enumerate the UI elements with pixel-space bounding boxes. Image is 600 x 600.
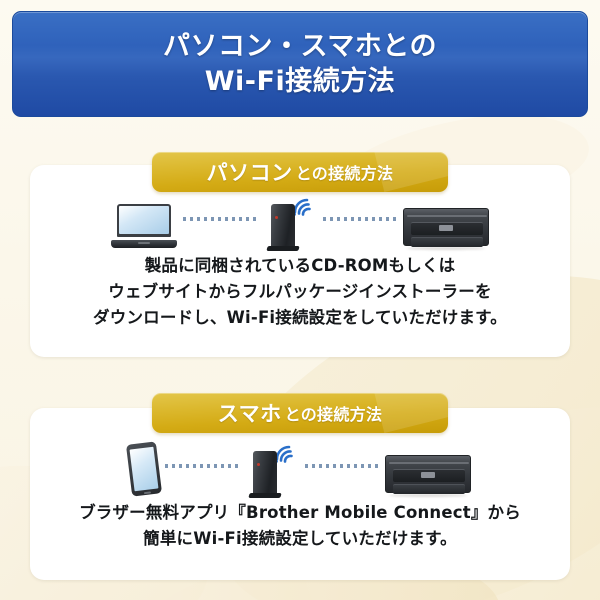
banner-title-line-2: Wi-Fi接続方法: [205, 64, 395, 99]
printer-lower-tray: [393, 484, 465, 494]
router-icon: [263, 192, 317, 248]
router-base: [266, 246, 299, 251]
printer-body: [385, 455, 471, 493]
body-text-sp-line-2: 簡単にWi-Fi接続設定していただけます。: [0, 526, 600, 552]
smartphone-screen: [130, 447, 159, 492]
badge-pc-strong-label: パソコン: [207, 157, 293, 187]
printer-logo: [439, 225, 453, 231]
printer-slot: [385, 437, 471, 495]
dotted-connector-icon: [305, 464, 379, 468]
dotted-connector-icon: [165, 464, 239, 468]
badge-smartphone-connection: スマホ との接続方法: [152, 393, 448, 433]
laptop-base: [111, 240, 177, 248]
smartphone-slot: [129, 437, 159, 495]
router-body: [253, 451, 277, 495]
laptop-slot: [111, 190, 177, 248]
router-icon: [245, 439, 299, 495]
banner-title-line-1: パソコン・スマホとの: [163, 29, 437, 64]
dotted-connector-icon: [183, 217, 257, 221]
printer-logo: [421, 472, 435, 478]
printer-top-line: [389, 462, 469, 464]
printer-icon: [385, 451, 471, 495]
laptop-screen: [119, 206, 169, 234]
printer-shadow: [389, 494, 467, 497]
printer-top-line: [407, 215, 487, 217]
body-text-pc-line-3: ダウンロードし、Wi-Fi接続設定をしていただけます。: [0, 305, 600, 331]
header-banner: パソコン・スマホとの Wi-Fi接続方法: [12, 11, 588, 117]
router-slot: [245, 437, 299, 495]
printer-shadow: [407, 247, 485, 250]
smartphone-home-button: [143, 491, 150, 494]
badge-pc-connection: パソコン との接続方法: [152, 152, 448, 192]
router-body: [271, 204, 295, 248]
printer-slot: [403, 190, 489, 248]
router-slot: [263, 190, 317, 248]
device-diagram-smartphone: [0, 437, 600, 495]
dotted-connector-icon: [323, 217, 397, 221]
laptop-lid: [117, 204, 171, 237]
router-base: [248, 493, 281, 498]
page-root: パソコン・スマホとの Wi-Fi接続方法 パソコン との接続方法: [0, 0, 600, 600]
badge-pc-rest-label: との接続方法: [296, 160, 394, 184]
printer-body: [403, 208, 489, 246]
badge-sp-strong-label: スマホ: [218, 398, 282, 428]
body-text-pc: 製品に同梱されているCD-ROMもしくは ウェブサイトからフルパッケージインスト…: [0, 253, 600, 331]
badge-sp-rest-label: との接続方法: [285, 401, 383, 425]
laptop-icon: [111, 204, 177, 248]
body-text-pc-line-2: ウェブサイトからフルパッケージインストーラーを: [0, 279, 600, 305]
printer-icon: [403, 204, 489, 248]
body-text-sp-line-1: ブラザー無料アプリ『Brother Mobile Connect』から: [0, 500, 600, 526]
body-text-pc-line-1: 製品に同梱されているCD-ROMもしくは: [0, 253, 600, 279]
printer-lower-tray: [411, 237, 483, 247]
body-text-smartphone: ブラザー無料アプリ『Brother Mobile Connect』から 簡単にW…: [0, 500, 600, 552]
smartphone-icon: [126, 441, 162, 496]
device-diagram-pc: [0, 190, 600, 248]
